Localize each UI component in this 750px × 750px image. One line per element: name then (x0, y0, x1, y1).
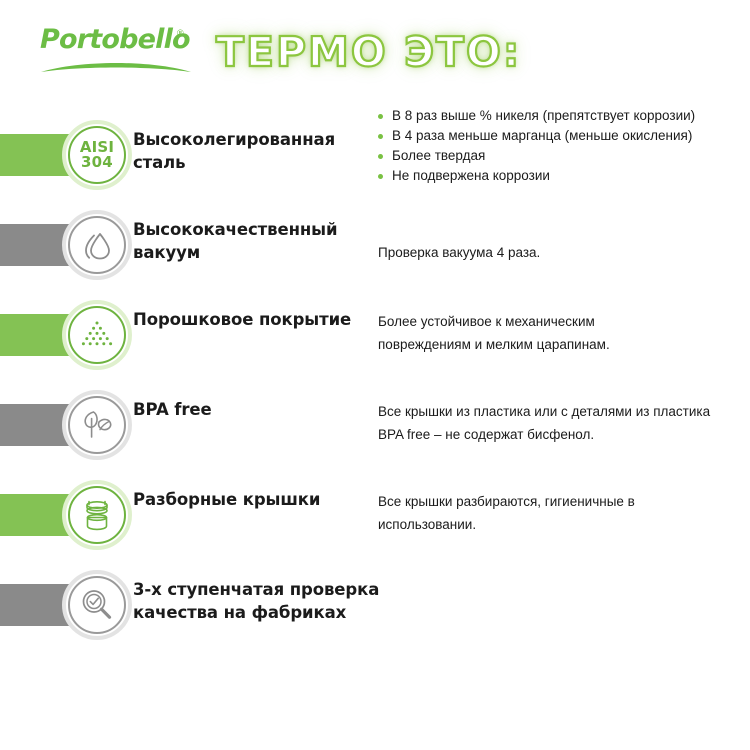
list-item: Не подвержена коррозии (378, 166, 750, 186)
feature-title: Высококачественный вакуум (133, 218, 368, 264)
badge-line-2: 304 (80, 155, 114, 170)
feature-row-detachable-lids: Разборные крышки Все крышки разбираются,… (0, 470, 750, 560)
registered-trademark-icon: ® (177, 28, 184, 38)
page-header: Portobello ® ТЕРМО ЭТО: (0, 0, 750, 105)
badge-text: AISI 304 (80, 140, 114, 170)
droplet-icon (79, 227, 115, 263)
feature-bullet-list: В 8 раз выше % никеля (препятствует корр… (378, 106, 750, 186)
dot-triangle-icon (80, 319, 114, 351)
two-leaves-icon (78, 408, 116, 442)
feature-description: Все крышки разбираются, гигиеничные в ис… (378, 490, 708, 536)
feature-title: Порошковое покрытие (133, 308, 368, 331)
badge-inner-circle: AISI 304 (68, 126, 126, 184)
feature-description: Проверка вакуума 4 раза. (378, 241, 748, 264)
badge-inner-circle (68, 396, 126, 454)
page-title: ТЕРМО ЭТО: (216, 24, 521, 80)
magnifier-icon (79, 587, 115, 623)
aisi-304-badge-icon: AISI 304 (62, 120, 132, 190)
feature-row-steel: AISI 304 Высоколегированная сталь В 8 ра… (0, 110, 750, 200)
feature-row-quality-check: 3-х ступенчатая проверка качества на фаб… (0, 560, 750, 650)
magnifier-check-quality-icon (62, 570, 132, 640)
list-item: В 8 раз выше % никеля (препятствует корр… (378, 106, 750, 126)
logo-wordmark: Portobello (40, 26, 200, 53)
portobello-logo: Portobello ® (40, 26, 200, 82)
leaves-bpa-free-icon (62, 390, 132, 460)
feature-title: Высоколегированная сталь (133, 128, 368, 174)
badge-inner-circle (68, 306, 126, 364)
feature-title: 3-х ступенчатая проверка качества на фаб… (133, 578, 383, 624)
feature-description: Все крышки из пластика или с деталями из… (378, 400, 718, 446)
badge-inner-circle (68, 216, 126, 274)
water-drop-vacuum-icon (62, 210, 132, 280)
detachable-lid-icon (62, 480, 132, 550)
feature-row-powder-coating: Порошковое покрытие Более устойчивое к м… (0, 290, 750, 380)
feature-title: BPA free (133, 398, 368, 421)
portobello-swoosh-icon (40, 58, 192, 74)
check-icon (90, 598, 98, 604)
powder-dots-icon (62, 300, 132, 370)
lid-parts-icon (79, 498, 115, 532)
list-item: В 4 раза меньше марганца (меньше окислен… (378, 126, 750, 146)
feature-row-bpa-free: BPA free Все крышки из пластика или с де… (0, 380, 750, 470)
feature-description: Более устойчивое к механическим поврежде… (378, 310, 678, 356)
feature-row-vacuum: Высококачественный вакуум Проверка вакуу… (0, 200, 750, 290)
badge-inner-circle (68, 486, 126, 544)
feature-title: Разборные крышки (133, 488, 368, 511)
badge-inner-circle (68, 576, 126, 634)
list-item: Более твердая (378, 146, 750, 166)
